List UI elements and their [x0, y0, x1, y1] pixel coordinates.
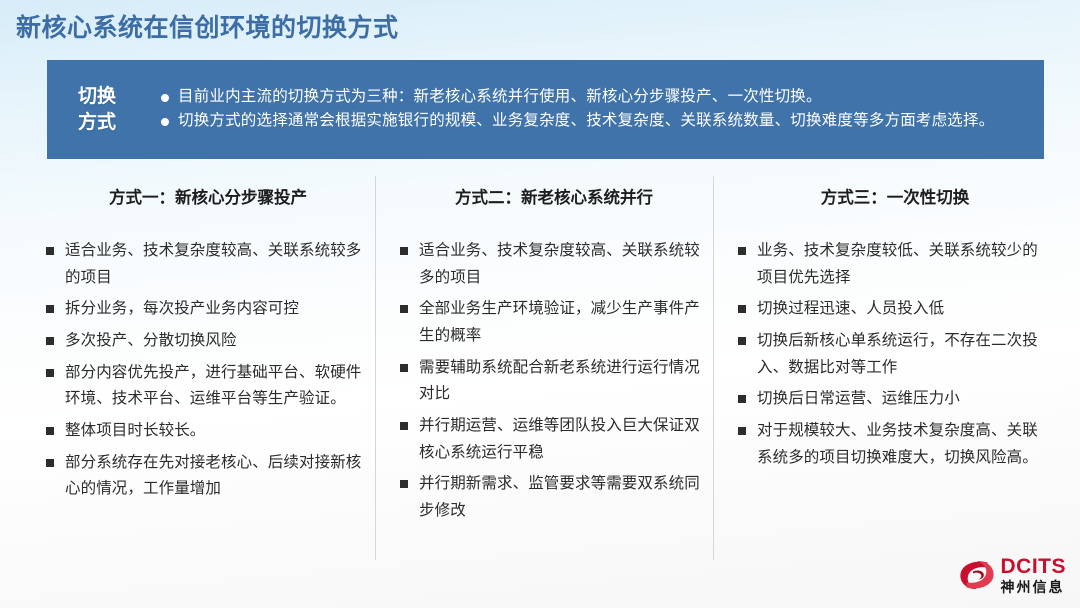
column-header: 方式三：一次性切换 — [738, 184, 1052, 208]
square-bullet-icon — [400, 422, 408, 430]
square-bullet-icon — [46, 337, 54, 345]
banner-bullet-list: 目前业内主流的切换方式为三种：新老核心系统并行使用、新核心分步骤投产、一次性切换… — [143, 85, 1044, 134]
square-bullet-icon — [400, 480, 408, 488]
list-item: 全部业务生产环境验证，减少生产事件产生的概率 — [400, 296, 708, 349]
list-item: 并行期新需求、监管要求等需要双系统同步修改 — [400, 471, 708, 524]
column-method-two: 方式二：新老核心系统并行 适合业务、技术复杂度较高、关联系统较多的项目 全部业务… — [376, 176, 714, 568]
column-method-three: 方式三：一次性切换 业务、技术复杂度较低、关联系统较少的项目优先选择 切换过程迅… — [714, 176, 1060, 568]
banner-bullet-text: 目前业内主流的切换方式为三种：新老核心系统并行使用、新核心分步骤投产、一次性切换… — [178, 86, 1030, 109]
list-item-text: 并行期新需求、监管要求等需要双系统同步修改 — [419, 471, 708, 524]
list-item: 整体项目时长较长。 — [46, 418, 370, 445]
list-item-text: 适合业务、技术复杂度较高、关联系统较多的项目 — [419, 238, 708, 291]
square-bullet-icon — [46, 427, 54, 435]
list-item: 适合业务、技术复杂度较高、关联系统较多的项目 — [400, 238, 708, 291]
square-bullet-icon — [46, 247, 54, 255]
column-header: 方式一：新核心分步骤投产 — [46, 184, 370, 208]
company-logo: DCITS 神州信息 — [957, 554, 1067, 596]
list-item-text: 切换后日常运营、运维压力小 — [757, 386, 1052, 413]
summary-banner: 切换 方式 目前业内主流的切换方式为三种：新老核心系统并行使用、新核心分步骤投产… — [47, 60, 1044, 159]
square-bullet-icon — [738, 427, 746, 435]
page-title: 新核心系统在信创环境的切换方式 — [16, 8, 399, 44]
list-item: 部分系统存在先对接老核心、后续对接新核心的情况，工作量增加 — [46, 450, 370, 503]
list-item: 业务、技术复杂度较低、关联系统较少的项目优先选择 — [738, 238, 1052, 291]
list-item: 对于规模较大、业务技术复杂度高、关联系统多的项目切换难度大，切换风险高。 — [738, 418, 1052, 471]
list-item-text: 部分系统存在先对接老核心、后续对接新核心的情况，工作量增加 — [65, 450, 370, 503]
square-bullet-icon — [738, 337, 746, 345]
list-item-text: 全部业务生产环境验证，减少生产事件产生的概率 — [419, 296, 708, 349]
list-item-text: 对于规模较大、业务技术复杂度高、关联系统多的项目切换难度大，切换风险高。 — [757, 418, 1052, 471]
list-item-text: 切换过程迅速、人员投入低 — [757, 296, 1052, 323]
slide-canvas: 新核心系统在信创环境的切换方式 切换 方式 目前业内主流的切换方式为三种：新老核… — [0, 0, 1080, 608]
square-bullet-icon — [400, 364, 408, 372]
square-bullet-icon — [46, 459, 54, 467]
banner-bullet-item: 切换方式的选择通常会根据实施银行的规模、业务复杂度、技术复杂度、关联系统数量、切… — [161, 110, 1030, 133]
square-bullet-icon — [738, 247, 746, 255]
square-bullet-icon — [400, 305, 408, 313]
list-item-text: 需要辅助系统配合新老系统进行运行情况对比 — [419, 355, 708, 408]
logo-text-en: DCITS — [1001, 556, 1067, 577]
square-bullet-icon — [46, 305, 54, 313]
logo-text-cn: 神州信息 — [1001, 580, 1067, 594]
logo-text-block: DCITS 神州信息 — [1001, 556, 1067, 594]
column-item-list: 适合业务、技术复杂度较高、关联系统较多的项目 全部业务生产环境验证，减少生产事件… — [400, 238, 708, 525]
dcits-swoosh-icon — [957, 555, 997, 595]
banner-label: 切换 方式 — [51, 84, 143, 134]
list-item: 需要辅助系统配合新老系统进行运行情况对比 — [400, 355, 708, 408]
list-item: 切换后日常运营、运维压力小 — [738, 386, 1052, 413]
comparison-columns: 方式一：新核心分步骤投产 适合业务、技术复杂度较高、关联系统较多的项目 拆分业务… — [24, 176, 1060, 568]
banner-label-line-2: 方式 — [51, 110, 143, 135]
column-method-one: 方式一：新核心分步骤投产 适合业务、技术复杂度较高、关联系统较多的项目 拆分业务… — [24, 176, 376, 568]
column-item-list: 适合业务、技术复杂度较高、关联系统较多的项目 拆分业务，每次投产业务内容可控 多… — [46, 238, 370, 503]
banner-bullet-item: 目前业内主流的切换方式为三种：新老核心系统并行使用、新核心分步骤投产、一次性切换… — [161, 86, 1030, 109]
list-item: 切换后新核心单系统运行，不存在二次投入、数据比对等工作 — [738, 328, 1052, 381]
list-item-text: 适合业务、技术复杂度较高、关联系统较多的项目 — [65, 238, 370, 291]
list-item: 部分内容优先投产，进行基础平台、软硬件环境、技术平台、运维平台等生产验证。 — [46, 360, 370, 413]
dot-bullet-icon — [161, 118, 169, 126]
list-item: 适合业务、技术复杂度较高、关联系统较多的项目 — [46, 238, 370, 291]
list-item-text: 拆分业务，每次投产业务内容可控 — [65, 296, 370, 323]
square-bullet-icon — [738, 395, 746, 403]
banner-bullet-text: 切换方式的选择通常会根据实施银行的规模、业务复杂度、技术复杂度、关联系统数量、切… — [178, 110, 1030, 133]
square-bullet-icon — [46, 369, 54, 377]
list-item-text: 整体项目时长较长。 — [65, 418, 370, 445]
list-item: 拆分业务，每次投产业务内容可控 — [46, 296, 370, 323]
list-item-text: 多次投产、分散切换风险 — [65, 328, 370, 355]
list-item-text: 并行期运营、运维等团队投入巨大保证双核心系统运行平稳 — [419, 413, 708, 466]
dot-bullet-icon — [161, 94, 169, 102]
list-item: 并行期运营、运维等团队投入巨大保证双核心系统运行平稳 — [400, 413, 708, 466]
list-item: 多次投产、分散切换风险 — [46, 328, 370, 355]
square-bullet-icon — [738, 305, 746, 313]
square-bullet-icon — [400, 247, 408, 255]
list-item-text: 业务、技术复杂度较低、关联系统较少的项目优先选择 — [757, 238, 1052, 291]
column-header: 方式二：新老核心系统并行 — [400, 184, 708, 208]
banner-label-line-1: 切换 — [51, 84, 143, 109]
list-item-text: 切换后新核心单系统运行，不存在二次投入、数据比对等工作 — [757, 328, 1052, 381]
list-item-text: 部分内容优先投产，进行基础平台、软硬件环境、技术平台、运维平台等生产验证。 — [65, 360, 370, 413]
column-item-list: 业务、技术复杂度较低、关联系统较少的项目优先选择 切换过程迅速、人员投入低 切换… — [738, 238, 1052, 471]
list-item: 切换过程迅速、人员投入低 — [738, 296, 1052, 323]
